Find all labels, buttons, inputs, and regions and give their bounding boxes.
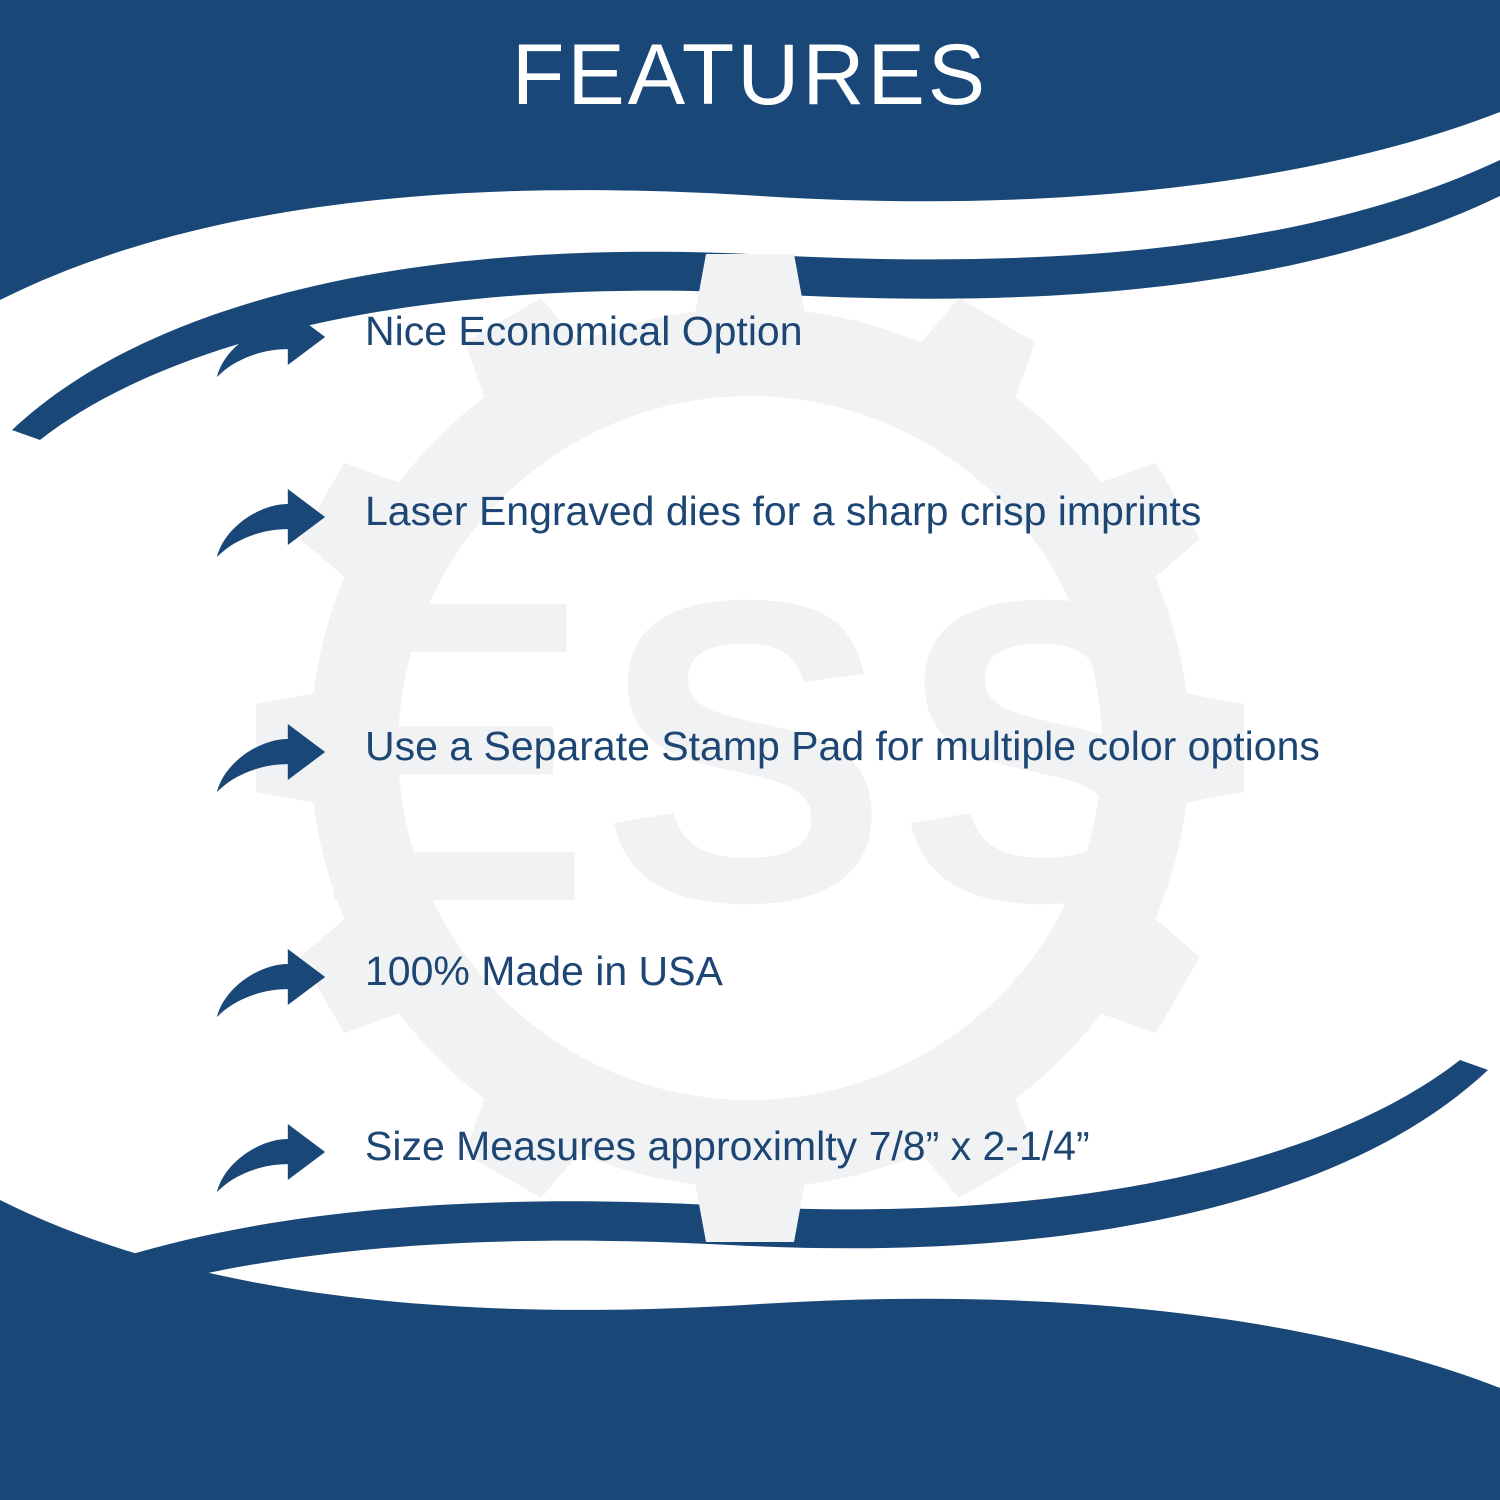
feature-item: Nice Economical Option <box>215 305 1485 385</box>
feature-text: Laser Engraved dies for a sharp crisp im… <box>365 485 1201 537</box>
feature-item: Laser Engraved dies for a sharp crisp im… <box>215 485 1485 565</box>
feature-item: 100% Made in USA <box>215 945 1485 1025</box>
feature-item: Use a Separate Stamp Pad for multiple co… <box>215 720 1485 800</box>
curved-arrow-right-icon <box>215 945 327 1025</box>
curved-arrow-right-icon <box>215 305 327 385</box>
feature-item: Size Measures approximlty 7/8” x 2-1/4” <box>215 1120 1485 1200</box>
curved-arrow-right-icon <box>215 1120 327 1200</box>
features-list: Nice Economical Option Laser Engraved di… <box>0 0 1500 1500</box>
feature-text: Nice Economical Option <box>365 305 803 357</box>
curved-arrow-right-icon <box>215 720 327 800</box>
curved-arrow-right-icon <box>215 485 327 565</box>
feature-text: Use a Separate Stamp Pad for multiple co… <box>365 720 1320 772</box>
feature-text: 100% Made in USA <box>365 945 723 997</box>
features-banner: ESS FEATURES Nice Economical Option Lase… <box>0 0 1500 1500</box>
feature-text: Size Measures approximlty 7/8” x 2-1/4” <box>365 1120 1090 1172</box>
